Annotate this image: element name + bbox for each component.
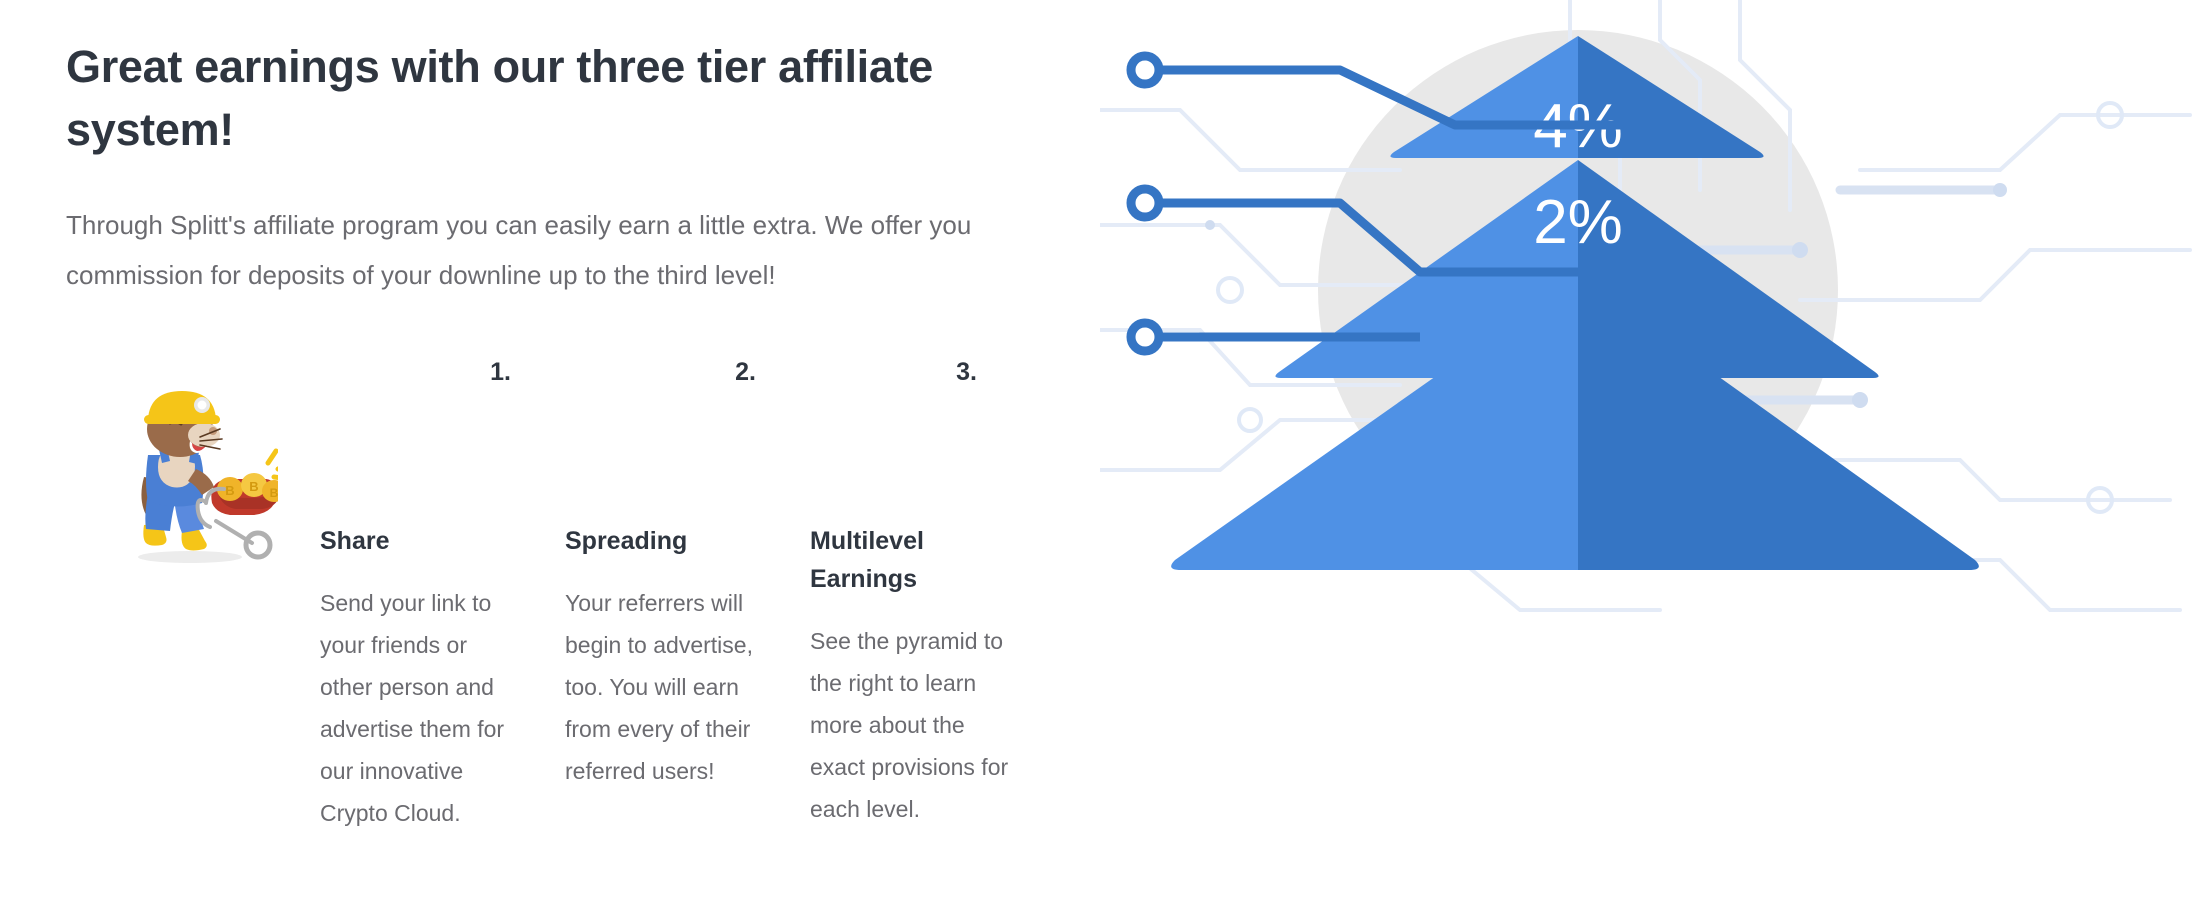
feature-title: Spreading (565, 522, 775, 560)
section-description: Through Splitt's affiliate program you c… (66, 200, 1056, 300)
feature-title: Share (320, 522, 530, 560)
svg-text:B: B (225, 483, 234, 498)
feature-number: 2. (735, 358, 756, 387)
connector-node-tier-2[interactable] (1131, 189, 1159, 217)
svg-text:B: B (270, 486, 278, 500)
tier-2-label: 2% (1533, 188, 1623, 257)
feature-body: Your referrers will begin to advertise, … (565, 582, 765, 792)
feature-body: Send your link to your friends or other … (320, 582, 520, 834)
feature-title: Multilevel Earnings (810, 522, 1020, 598)
mole-miner-icon: B B B (108, 385, 278, 565)
affiliate-section: Great earnings with our three tier affil… (0, 0, 2198, 910)
miner-mascot-illustration: B B B (108, 385, 278, 565)
left-content-column: Great earnings with our three tier affil… (0, 0, 1100, 910)
pyramid-svg: 1% 2% 4% (1100, 0, 2198, 910)
feature-number: 1. (490, 358, 511, 387)
page-title: Great earnings with our three tier affil… (66, 35, 966, 161)
connector-node-tier-1[interactable] (1131, 56, 1159, 84)
connector-node-tier-3[interactable] (1131, 323, 1159, 351)
feature-body: See the pyramid to the right to learn mo… (810, 620, 1018, 830)
feature-number: 3. (956, 358, 977, 387)
svg-text:B: B (249, 479, 258, 494)
affiliate-pyramid-graphic: 1% 2% 4% (1100, 0, 2198, 910)
feature-columns: 1. Share Send your link to your friends … (320, 358, 1080, 878)
